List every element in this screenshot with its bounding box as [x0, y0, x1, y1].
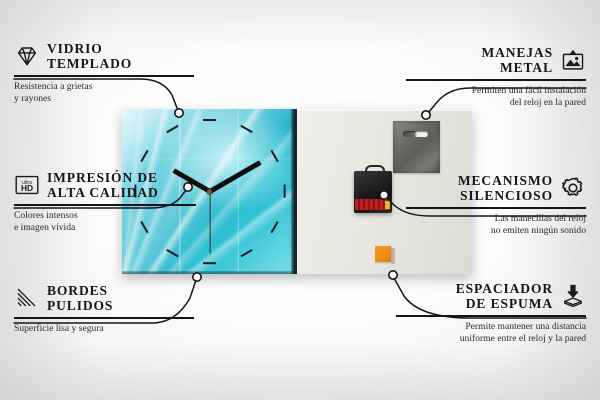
infographic-canvas: VIDRIO TEMPLADO Resistencia a grietas y … — [0, 0, 600, 400]
polished-edges-icon — [14, 285, 40, 311]
feature-header: MECANISMO SILENCIOSO — [406, 173, 586, 203]
clock-tick — [203, 262, 216, 264]
feature-description: Permiten una fácil instalación del reloj… — [406, 85, 586, 111]
feature-vidrio-templado: VIDRIO TEMPLADO Resistencia a grietas y … — [14, 41, 194, 106]
feature-title: MANEJAS METAL — [481, 45, 553, 75]
quartz-mechanism — [354, 171, 392, 213]
clock-tick — [203, 119, 216, 121]
feature-divider — [406, 79, 586, 80]
foam-spacer-pad — [375, 246, 391, 262]
metal-hanger-plate — [393, 121, 440, 173]
feature-impresion-alta-calidad: ultra HD IMPRESIÓN DE ALTA CALIDAD Color… — [14, 170, 196, 235]
feature-divider — [14, 75, 194, 76]
diamond-icon — [14, 43, 40, 69]
endpoint-clock-bottom-left — [193, 273, 201, 281]
feature-header: ultra HD IMPRESIÓN DE ALTA CALIDAD — [14, 170, 196, 200]
hanger-keyhole-slot — [403, 131, 428, 137]
feature-header: VIDRIO TEMPLADO — [14, 41, 194, 71]
feature-mecanismo-silencioso: MECANISMO SILENCIOSO Las manecillas del … — [406, 173, 586, 238]
battery-contact — [385, 201, 390, 209]
feature-manejas-metal: MANEJAS METAL Permiten una fácil instala… — [406, 45, 586, 110]
feature-title: ESPACIADOR DE ESPUMA — [456, 281, 553, 311]
feature-divider — [396, 315, 586, 316]
gear-icon — [560, 175, 586, 201]
feature-description: Colores intensos e imagen vívida — [14, 210, 196, 236]
feature-description: Permite mantener una distancia uniforme … — [396, 321, 586, 347]
mechanism-hanging-loop — [365, 165, 385, 176]
feature-description: Resistencia a grietas y rayones — [14, 81, 194, 107]
feature-title: IMPRESIÓN DE ALTA CALIDAD — [47, 170, 159, 200]
clock-bottom-edge — [122, 271, 297, 274]
svg-text:HD: HD — [21, 183, 33, 193]
feature-header: BORDES PULIDOS — [14, 283, 194, 313]
feature-title: VIDRIO TEMPLADO — [47, 41, 132, 71]
feature-bordes-pulidos: BORDES PULIDOS Superficie lisa y segura — [14, 283, 194, 335]
feature-header: ESPACIADOR DE ESPUMA — [396, 281, 586, 311]
feature-divider — [14, 204, 196, 205]
feature-espaciador-espuma: ESPACIADOR DE ESPUMA Permite mantener un… — [396, 281, 586, 346]
feature-description: Superficie lisa y segura — [14, 323, 194, 336]
clock-tick — [283, 185, 285, 198]
feature-divider — [14, 317, 194, 318]
ultra-hd-icon: ultra HD — [14, 172, 40, 198]
feature-header: MANEJAS METAL — [406, 45, 586, 75]
clock-second-hand — [209, 191, 210, 253]
feature-title: MECANISMO SILENCIOSO — [458, 173, 553, 203]
wall-hanging-icon — [560, 47, 586, 73]
clock-center-pivot — [207, 189, 212, 194]
foam-spacer-icon — [560, 283, 586, 309]
mechanism-body — [357, 178, 387, 192]
feature-divider — [406, 207, 586, 208]
foam-spacer-side — [391, 248, 395, 264]
feature-title: BORDES PULIDOS — [47, 283, 113, 313]
feature-description: Las manecillas del reloj no emiten ningú… — [406, 213, 586, 239]
